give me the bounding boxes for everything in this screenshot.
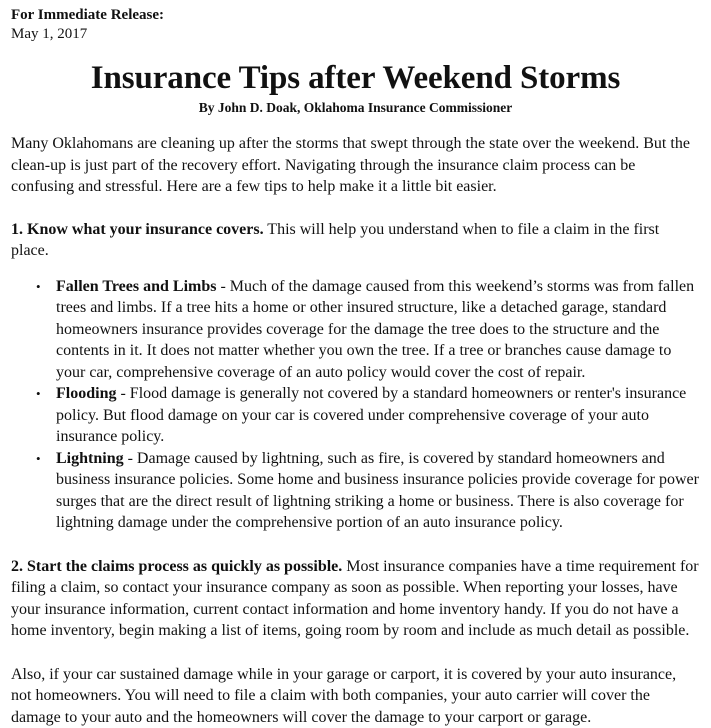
section-heading-1-lead: 1. Know what your insurance covers. [11, 221, 264, 238]
bullet-text-lightning: - Damage caused by lightning, such as fi… [56, 450, 699, 532]
intro-paragraph: Many Oklahomans are cleaning up after th… [11, 133, 700, 198]
closing-paragraph: Also, if your car sustained damage while… [11, 664, 700, 728]
coverage-bullet-list: Fallen Trees and Limbs - Much of the dam… [11, 276, 700, 534]
release-date: May 1, 2017 [11, 25, 700, 44]
list-item: Lightning - Damage caused by lightning, … [56, 448, 700, 534]
section-heading-2-lead: 2. Start the claims process as quickly a… [11, 558, 342, 575]
press-release-document: For Immediate Release: May 1, 2017 Insur… [0, 0, 711, 728]
section-heading-2: 2. Start the claims process as quickly a… [11, 556, 700, 642]
bullet-term-flooding: Flooding [56, 385, 116, 402]
byline: By John D. Doak, Oklahoma Insurance Comm… [11, 99, 700, 116]
release-label: For Immediate Release: [11, 6, 700, 25]
bullet-text-flooding: - Flood damage is generally not covered … [56, 385, 686, 445]
bullet-term-lightning: Lightning [56, 450, 124, 467]
page-title: Insurance Tips after Weekend Storms [11, 58, 700, 98]
list-item: Fallen Trees and Limbs - Much of the dam… [56, 276, 700, 384]
bullet-term-fallen-trees: Fallen Trees and Limbs [56, 278, 216, 295]
section-heading-1: 1. Know what your insurance covers. This… [11, 219, 700, 262]
list-item: Flooding - Flood damage is generally not… [56, 383, 700, 448]
